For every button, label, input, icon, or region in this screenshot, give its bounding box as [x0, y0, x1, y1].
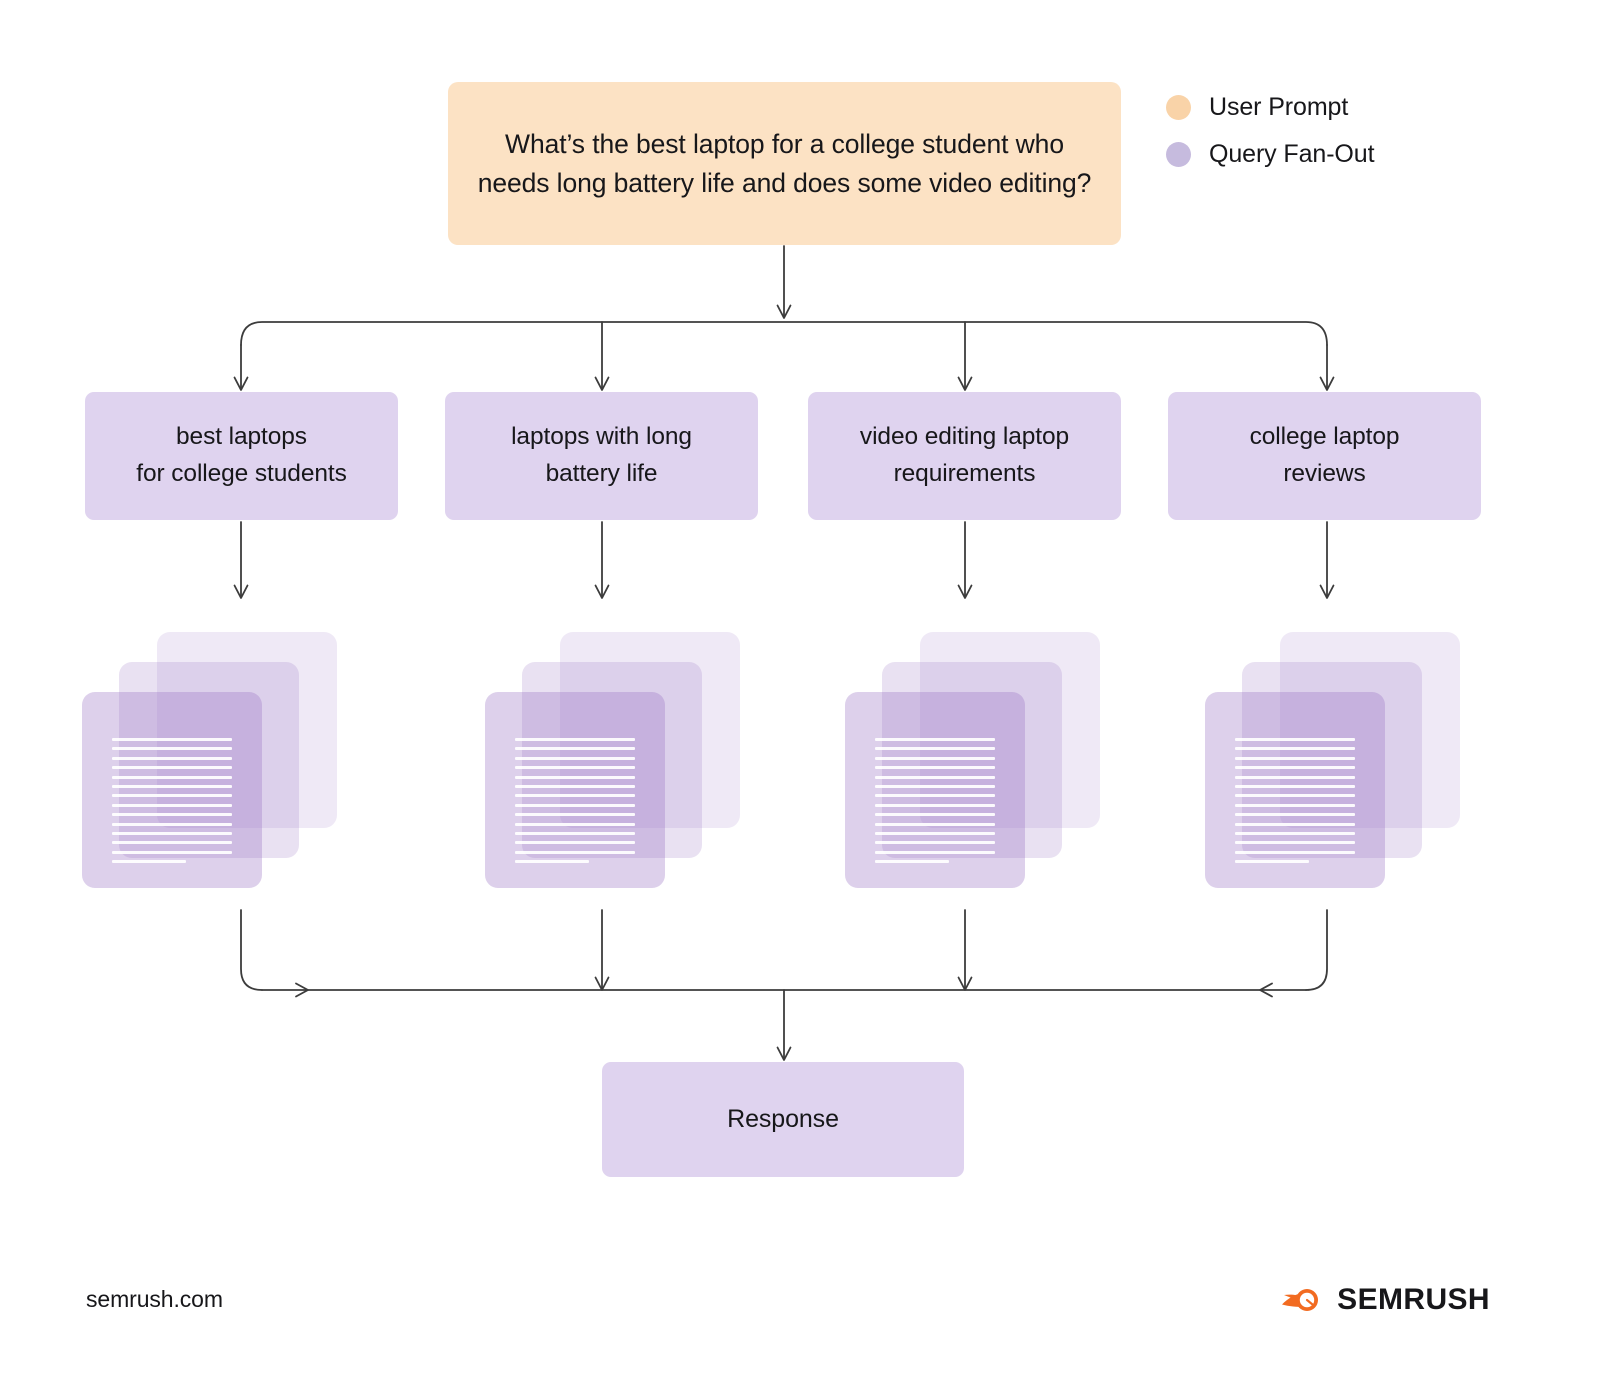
- document-text-line: [1235, 841, 1355, 844]
- document-text-line: [112, 747, 232, 750]
- document-text-line: [112, 841, 232, 844]
- arrowhead-response: [778, 1048, 791, 1061]
- document-text-line: [1235, 785, 1355, 788]
- document-text-line: [1235, 804, 1355, 807]
- legend-item-user-prompt: User Prompt: [1166, 84, 1496, 131]
- document-text-line: [875, 776, 995, 779]
- document-text-line: [1235, 823, 1355, 826]
- document-text-line: [875, 794, 995, 797]
- semrush-logo-icon: [1280, 1284, 1324, 1316]
- query-fanout-label: laptops with longbattery life: [511, 419, 692, 493]
- legend-item-label: Query Fan-Out: [1209, 140, 1374, 169]
- arrowhead-docs-1: [596, 586, 609, 599]
- document-text-line: [515, 823, 635, 826]
- document-text-line: [1235, 813, 1355, 816]
- document-card-front: [845, 692, 1025, 888]
- user-prompt-text: What’s the best laptop for a college stu…: [474, 125, 1095, 202]
- arrowhead-docs-3: [1321, 586, 1334, 599]
- document-text-line: [112, 813, 232, 816]
- query-fanout-box-0: best laptopsfor college students: [85, 392, 398, 520]
- circle-dot-icon: [1166, 142, 1191, 167]
- edge-docs-3-to-merge: [1306, 910, 1327, 990]
- document-text-line: [515, 794, 635, 797]
- document-text-line: [875, 813, 995, 816]
- user-prompt-box: What’s the best laptop for a college stu…: [448, 82, 1121, 245]
- document-card-front: [82, 692, 262, 888]
- document-text-line: [1235, 766, 1355, 769]
- arrowhead-query-1: [596, 378, 609, 391]
- arrowhead-prompt: [778, 306, 791, 319]
- footer-url: semrush.com: [86, 1286, 223, 1313]
- response-label: Response: [727, 1105, 839, 1134]
- legend-item-label: User Prompt: [1209, 93, 1348, 122]
- arrowhead-query-0: [235, 378, 248, 391]
- document-text-line: [1235, 738, 1355, 741]
- arrowhead-merge-2: [959, 978, 972, 991]
- document-text-line: [112, 804, 232, 807]
- document-text-line: [1235, 757, 1355, 760]
- document-text-line: [112, 794, 232, 797]
- document-text-line: [112, 785, 232, 788]
- document-text-line: [875, 804, 995, 807]
- legend: User Prompt Query Fan-Out: [1166, 84, 1496, 178]
- document-text-line: [875, 823, 995, 826]
- query-fanout-label: college laptopreviews: [1250, 419, 1400, 493]
- legend-item-query-fanout: Query Fan-Out: [1166, 131, 1496, 178]
- document-text-line: [112, 738, 232, 741]
- document-text-line: [515, 738, 635, 741]
- document-text-line: [875, 785, 995, 788]
- document-text-line: [515, 860, 589, 863]
- document-text-line: [1235, 832, 1355, 835]
- document-text-line: [515, 813, 635, 816]
- document-text-line: [515, 747, 635, 750]
- document-text-line: [875, 841, 995, 844]
- query-fanout-box-3: college laptopreviews: [1168, 392, 1481, 520]
- document-text-line: [112, 832, 232, 835]
- circle-dot-icon: [1166, 95, 1191, 120]
- document-text-line: [515, 757, 635, 760]
- fanout-bus: [241, 322, 1327, 345]
- arrowhead-merge-0: [296, 984, 308, 997]
- document-stack-0: [82, 632, 337, 892]
- document-text-line: [875, 832, 995, 835]
- document-text-lines: [515, 738, 635, 869]
- document-text-line: [112, 766, 232, 769]
- document-text-line: [515, 841, 635, 844]
- document-text-line: [112, 823, 232, 826]
- document-card-front: [485, 692, 665, 888]
- diagram-canvas: What’s the best laptop for a college stu…: [0, 0, 1600, 1373]
- document-text-lines: [1235, 738, 1355, 869]
- response-box: Response: [602, 1062, 964, 1177]
- query-fanout-box-1: laptops with longbattery life: [445, 392, 758, 520]
- arrowhead-merge-1: [596, 978, 609, 991]
- document-text-line: [112, 757, 232, 760]
- arrowhead-merge-3: [1260, 984, 1272, 997]
- document-text-line: [875, 747, 995, 750]
- edge-docs-0-to-merge: [241, 910, 262, 990]
- document-text-line: [1235, 747, 1355, 750]
- query-fanout-box-2: video editing laptoprequirements: [808, 392, 1121, 520]
- document-text-lines: [112, 738, 232, 869]
- document-text-line: [875, 757, 995, 760]
- document-text-line: [875, 738, 995, 741]
- query-fanout-label: video editing laptoprequirements: [860, 419, 1069, 493]
- document-text-line: [112, 776, 232, 779]
- document-stack-3: [1205, 632, 1460, 892]
- query-fanout-label: best laptopsfor college students: [136, 419, 346, 493]
- document-stack-2: [845, 632, 1100, 892]
- document-text-line: [112, 851, 232, 854]
- document-text-line: [515, 766, 635, 769]
- document-text-line: [875, 860, 949, 863]
- arrowhead-query-2: [959, 378, 972, 391]
- semrush-brand: SEMRUSH: [1280, 1283, 1490, 1317]
- document-text-lines: [875, 738, 995, 869]
- arrowhead-docs-0: [235, 586, 248, 599]
- document-text-line: [515, 785, 635, 788]
- document-card-front: [1205, 692, 1385, 888]
- arrowhead-docs-2: [959, 586, 972, 599]
- document-text-line: [515, 851, 635, 854]
- document-text-line: [1235, 794, 1355, 797]
- document-text-line: [875, 851, 995, 854]
- document-text-line: [875, 766, 995, 769]
- document-text-line: [515, 832, 635, 835]
- arrowhead-query-3: [1321, 378, 1334, 391]
- document-text-line: [1235, 776, 1355, 779]
- document-text-line: [112, 860, 186, 863]
- document-stack-1: [485, 632, 740, 892]
- document-text-line: [515, 776, 635, 779]
- document-text-line: [1235, 851, 1355, 854]
- document-text-line: [515, 804, 635, 807]
- document-text-line: [1235, 860, 1309, 863]
- semrush-wordmark: SEMRUSH: [1337, 1283, 1490, 1317]
